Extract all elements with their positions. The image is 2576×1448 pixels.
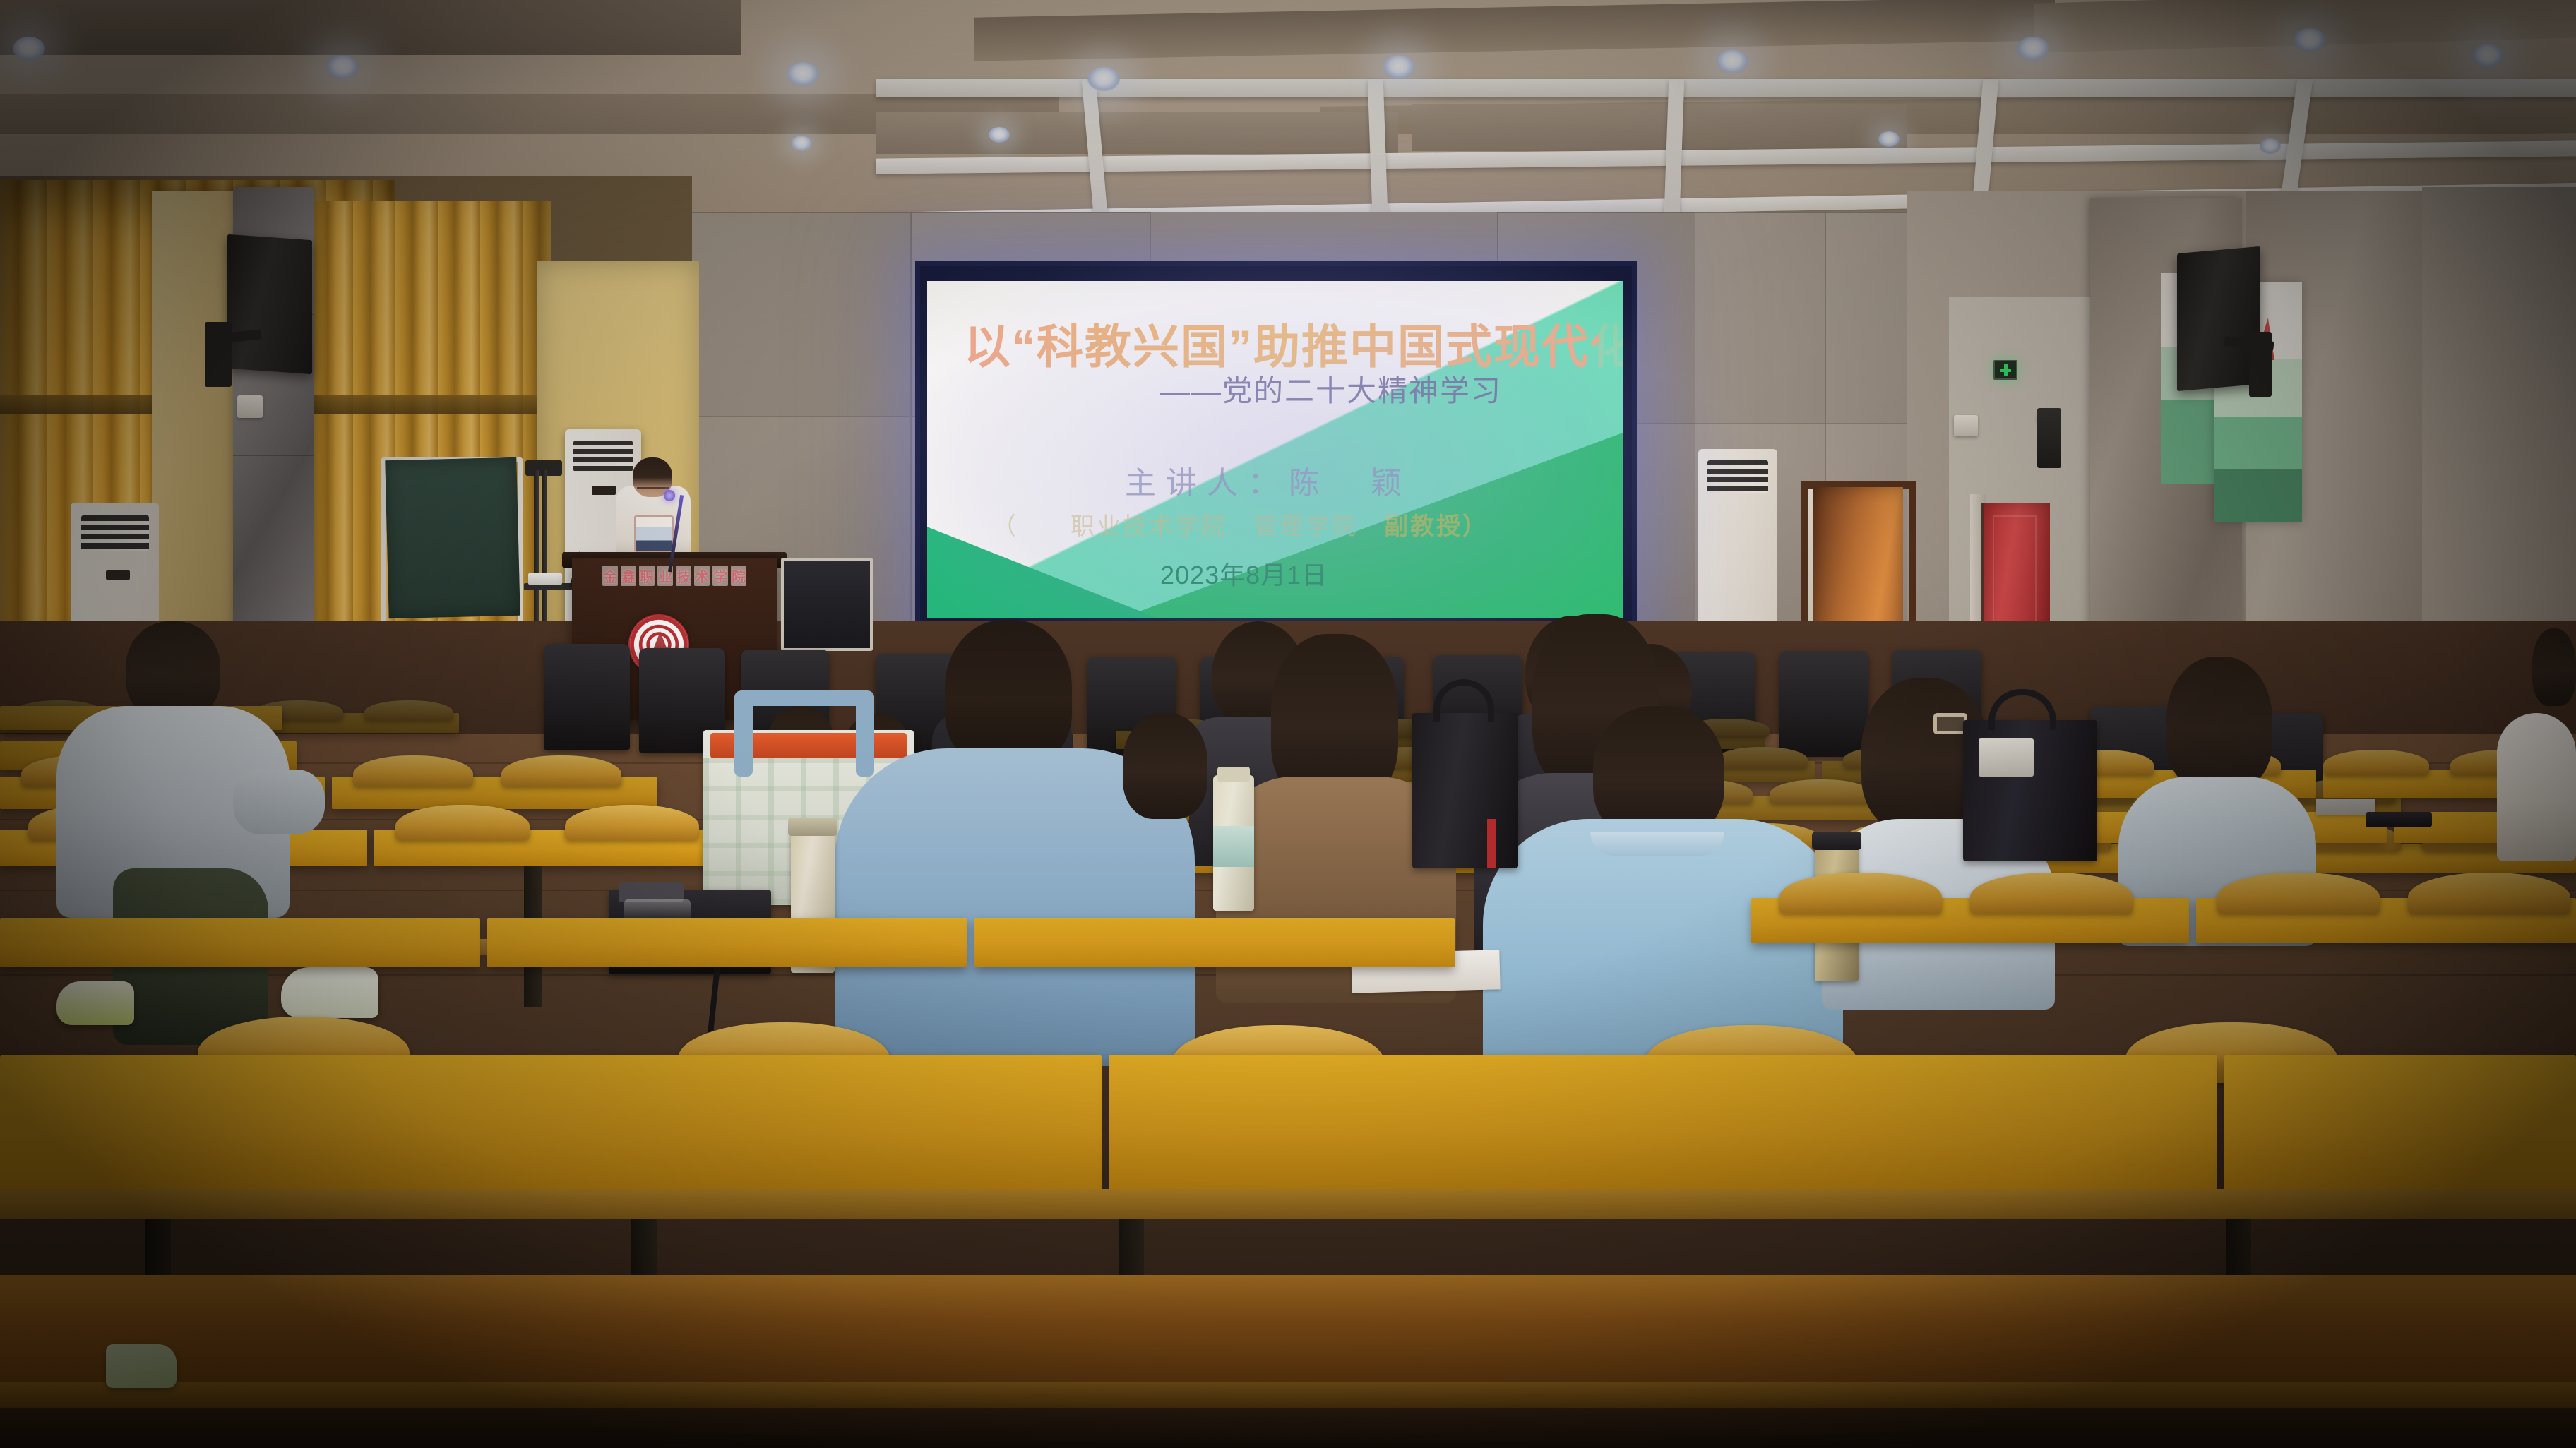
desk	[974, 918, 1455, 967]
attendee-head	[1123, 713, 1207, 819]
bottle-cap	[1217, 767, 1250, 782]
slide-affiliation-line: （ 职业技术学院 管理学院 副教授）	[992, 507, 1489, 541]
podium-sign: 金 鑫 职 业 技 术 学 院	[579, 565, 770, 586]
ceiling-downlight	[2017, 37, 2049, 61]
thermos-cap	[788, 818, 837, 836]
handbag-stripe	[1487, 819, 1496, 868]
wall-speaker-small-right	[2037, 408, 2061, 468]
attendee-torso	[2497, 713, 2576, 861]
ceiling-downlight	[989, 127, 1010, 143]
desk-seat[interactable]	[364, 700, 453, 720]
ceiling-downlight	[2294, 28, 2326, 52]
desk-seat[interactable]	[2408, 873, 2570, 914]
shirt-collar	[1590, 832, 1724, 856]
desk-seat[interactable]	[2323, 750, 2429, 775]
attendee-head	[945, 620, 1072, 767]
black-handbag	[1963, 720, 2097, 861]
desk-lower-shelf	[0, 1275, 2576, 1388]
attendee-head	[126, 621, 220, 720]
desk-seat[interactable]	[2217, 873, 2380, 914]
ac-vent-stage	[573, 441, 633, 472]
presenter-shirt-graphic	[634, 515, 674, 552]
ac-vent-left	[81, 515, 149, 551]
slide-subtitle: ——党的二十大精神学习	[1160, 367, 1502, 410]
desk	[0, 1055, 1102, 1196]
sneaker	[56, 981, 134, 1025]
ceiling-downlight	[787, 62, 819, 86]
desk-seat[interactable]	[395, 805, 530, 840]
stage-chair[interactable]	[1779, 651, 1868, 757]
ac-vent-right	[1707, 460, 1768, 493]
chalkboard	[385, 457, 520, 618]
wall-speaker-left-bracket	[205, 322, 232, 387]
ceiling-downlight	[1383, 55, 1415, 79]
desk-seat[interactable]	[565, 805, 699, 840]
hair-clip	[1933, 713, 1967, 734]
desk	[1109, 1055, 2217, 1196]
ac-display-left	[106, 570, 130, 580]
slide-speaker-line: 主讲人：陈 颖	[1125, 457, 1412, 503]
slide-date: 2023年8月1日	[1160, 555, 1328, 592]
ceiling-downlight	[13, 37, 45, 61]
desk-seat[interactable]	[501, 755, 621, 786]
wall-speaker-left	[227, 234, 312, 374]
desk	[0, 918, 480, 967]
ceiling-downlight	[1716, 49, 1748, 73]
desk-seat[interactable]	[1770, 779, 1873, 803]
small-item-on-shelf	[106, 1344, 177, 1388]
wall-control-box-right[interactable]	[1954, 415, 1978, 436]
desk	[2224, 1055, 2576, 1196]
ceiling-downlight	[1878, 131, 1900, 147]
papers-on-shelf	[528, 573, 562, 585]
podium-sign-char: 术	[694, 566, 710, 586]
smartphone[interactable]	[2366, 812, 2432, 827]
podium-sign-char: 金	[602, 566, 618, 586]
stage-monitor	[781, 558, 873, 651]
tote-bag-handle-top	[734, 690, 874, 706]
slide-affiliation-text: （ 职业技术学院 管理学院 副教授）	[992, 513, 1489, 540]
podium-sign-char: 职	[639, 566, 655, 586]
desk-seat[interactable]	[1716, 747, 1808, 768]
attendee-head	[2166, 657, 2272, 791]
projection-screen[interactable]: 以“科教兴国”助推中国式现代化 ——党的二十大精神学习 主讲人：陈 颖 （ 职业…	[927, 281, 1623, 618]
attendee-head	[2532, 628, 2576, 706]
podium-sign-char: 技	[676, 566, 691, 586]
lecture-hall-photo: 以“科教兴国”助推中国式现代化 ——党的二十大精神学习 主讲人：陈 颖 （ 职业…	[0, 0, 2576, 1448]
stage-chair[interactable]	[544, 644, 630, 750]
wall-speaker-right	[2177, 246, 2260, 391]
podium-microphone-head	[664, 490, 675, 501]
wall-control-box-left[interactable]	[237, 395, 263, 418]
ac-display-stage	[592, 486, 616, 495]
ceiling-downlight	[791, 136, 812, 151]
desk-seat[interactable]	[1779, 873, 1942, 914]
desk-lower-shelf-shadow	[0, 1408, 2576, 1448]
thermos-cap	[1812, 832, 1861, 850]
ceiling-downlight	[326, 55, 359, 79]
desk-lower-shelf-edge	[0, 1382, 2576, 1408]
sneaker	[281, 967, 378, 1018]
bottle-label	[1213, 826, 1254, 867]
attendee-arm	[233, 770, 325, 834]
desk-seat[interactable]	[353, 755, 473, 786]
exit-sign-icon	[1993, 360, 2017, 380]
ceiling-downlight	[2471, 44, 2504, 68]
black-handbag	[1412, 713, 1518, 868]
podium-sign-char: 学	[712, 566, 728, 586]
ceiling-soffit-left	[0, 0, 741, 55]
podium-sign-char: 院	[731, 566, 746, 586]
desk-seat[interactable]	[1970, 873, 2133, 914]
desk-front-edge	[0, 1189, 2576, 1219]
podium-sign-char: 鑫	[621, 566, 636, 586]
desk	[487, 918, 967, 967]
ceiling-downlight	[1087, 67, 1120, 91]
handbag-pocket	[1979, 738, 2034, 777]
ceiling-downlight	[2260, 138, 2281, 154]
